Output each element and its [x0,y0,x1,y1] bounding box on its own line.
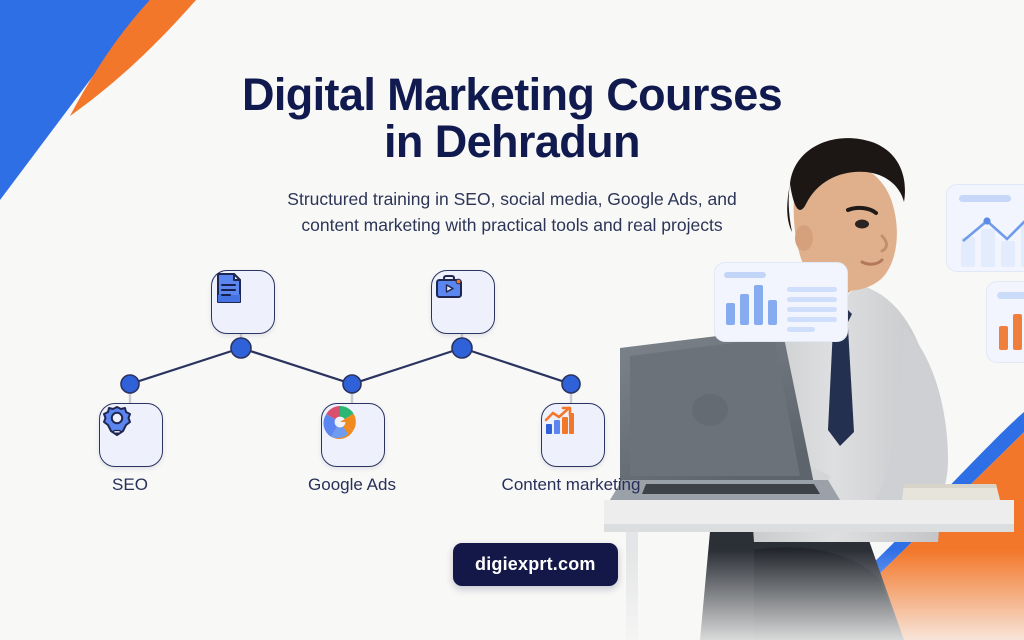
label-content-marketing: Content marketing [502,475,641,495]
tile-seo[interactable] [99,403,163,467]
poster-canvas: Digital Marketing Courses in Dehradun St… [0,0,1024,640]
subtitle-line-1: Structured training in SEO, social media… [287,189,736,209]
tile-video-briefcase[interactable] [431,270,495,334]
tile-content-marketing[interactable] [541,403,605,467]
dashboard-bar-card [714,262,848,342]
page-subtitle: Structured training in SEO, social media… [232,186,792,239]
tile-google-ads[interactable] [321,403,385,467]
page-title: Digital Marketing Courses in Dehradun [0,72,1024,166]
title-line-2: in Dehradun [384,116,640,167]
website-badge[interactable]: digiexprt.com [453,543,618,586]
title-line-1: Digital Marketing Courses [242,69,782,120]
tile-document[interactable] [211,270,275,334]
headline-block: Digital Marketing Courses in Dehradun St… [0,72,1024,238]
label-google-ads: Google Ads [308,475,396,495]
label-seo: SEO [112,475,148,495]
subtitle-line-2: content marketing with practical tools a… [301,215,722,235]
